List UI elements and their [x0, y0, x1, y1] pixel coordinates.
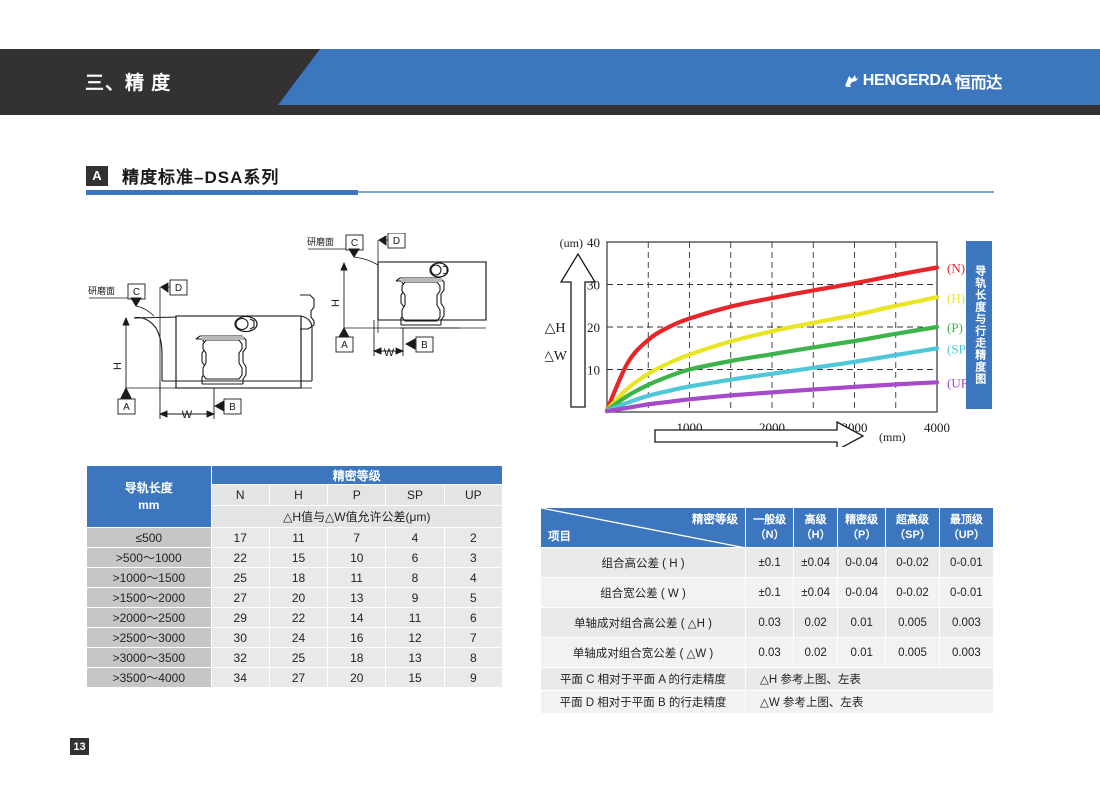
tolerance-value-UP: 2 [444, 528, 502, 548]
grade-col-UP: UP [444, 485, 502, 506]
rail-length-unit: mm [138, 498, 159, 512]
datum-d-left: D [175, 283, 182, 294]
chart-legend-N: (N) [947, 261, 965, 276]
grade-table-right: 精密等级 项目 一般级（N） 高级（H） 精密级（P） 超高级（SP） 最顶级（… [540, 507, 994, 714]
tolerance-value-P: 13 [328, 588, 386, 608]
tolerance-value-SP: 12 [386, 628, 444, 648]
spec-value-merged: △H 参考上图、左表 [746, 668, 994, 691]
tolerance-value-H: 11 [269, 528, 327, 548]
tolerance-value-H: 25 [269, 648, 327, 668]
svg-text:10: 10 [587, 363, 600, 378]
tolerance-value-P: 10 [328, 548, 386, 568]
spec-value-高级: ±0.04 [794, 578, 838, 608]
spec-value-最顶级: 0-0.01 [939, 548, 993, 578]
table-row: >3500～4000342720159 [87, 668, 503, 688]
eagle-mark-icon [843, 73, 860, 90]
tolerance-value-UP: 7 [444, 628, 502, 648]
rail-length-range: >1500～2000 [87, 588, 212, 608]
rail-length-range: >500～1000 [87, 548, 212, 568]
tolerance-value-P: 18 [328, 648, 386, 668]
logo-text-cn: 恒而达 [955, 69, 1002, 93]
table-corner-cell: 精密等级 项目 [541, 508, 746, 548]
table-row: ≤5001711742 [87, 528, 503, 548]
section-heading: A 精度标准–DSA系列 [86, 163, 279, 188]
table-row: >1500～200027201395 [87, 588, 503, 608]
chart-legend-P: (P) [947, 320, 963, 335]
section-title: 精度标准–DSA系列 [122, 163, 279, 188]
tolerance-value-SP: 11 [386, 608, 444, 628]
tolerance-value-UP: 8 [444, 648, 502, 668]
drawing-rail-section-right: H W A B [300, 233, 515, 383]
tolerance-value-SP: 15 [386, 668, 444, 688]
table-row: >2000～2500292214116 [87, 608, 503, 628]
datum-a-left: A [123, 402, 130, 413]
tolerance-value-H: 27 [269, 668, 327, 688]
grade-col-0: 一般级（N） [746, 508, 794, 548]
spec-value-最顶级: 0-0.01 [939, 578, 993, 608]
tolerance-value-N: 34 [211, 668, 269, 688]
table-row: 精密等级 项目 一般级（N） 高级（H） 精密级（P） 超高级（SP） 最顶级（… [541, 508, 994, 548]
section-rule-primary [86, 190, 358, 195]
tolerance-value-SP: 13 [386, 648, 444, 668]
spec-item-label: 单轴成对组合高公差 ( △H ) [541, 608, 746, 638]
table-row: >1000～150025181184 [87, 568, 503, 588]
rail-length-range: >2500～3000 [87, 628, 212, 648]
datum-b-right: B [421, 340, 428, 351]
page-number: 13 [70, 738, 89, 755]
spec-value-精密级: 0-0.04 [838, 578, 886, 608]
drawing-rail-section-left: H W A B [84, 236, 334, 426]
grade-col-P: P [328, 485, 386, 506]
page-title: 三、精 度 [85, 68, 171, 95]
spec-value-超高级: 0.005 [886, 638, 939, 668]
tolerance-value-P: 20 [328, 668, 386, 688]
page-root: 三、精 度 HENGERDA 恒而达 A 精度标准–DSA系列 [0, 0, 1100, 802]
spec-value-精密级: 0-0.04 [838, 548, 886, 578]
table-row: 单轴成对组合宽公差 ( △W )0.030.020.010.0050.003 [541, 638, 994, 668]
table-row: 组合宽公差 ( W )±0.1±0.040-0.040-0.020-0.01 [541, 578, 994, 608]
dimension-w-label-right: W [384, 347, 395, 359]
spec-value-高级: ±0.04 [794, 548, 838, 578]
logo-text-en: HENGERDA [863, 72, 952, 90]
tolerance-value-N: 25 [211, 568, 269, 588]
datum-a-right: A [341, 340, 348, 351]
svg-text:△H: △H [545, 321, 565, 336]
tolerance-value-P: 16 [328, 628, 386, 648]
tolerance-value-H: 24 [269, 628, 327, 648]
tolerance-value-P: 14 [328, 608, 386, 628]
spec-value-一般级: 0.03 [746, 608, 794, 638]
spec-value-最顶级: 0.003 [939, 608, 993, 638]
datum-b-left: B [229, 402, 236, 413]
tolerance-note: △H值与△W值允许公差(μm) [211, 506, 502, 528]
spec-item-label: 组合高公差 ( H ) [541, 548, 746, 578]
rail-length-range: >3000～3500 [87, 648, 212, 668]
tolerance-value-SP: 6 [386, 548, 444, 568]
dimension-h-label-left: H [112, 362, 124, 370]
grade-col-SP: SP [386, 485, 444, 506]
chart-legend-H: (H) [947, 290, 965, 305]
datum-c-left: C [133, 287, 140, 298]
grade-col-4: 最顶级（UP） [939, 508, 993, 548]
svg-text:(um): (um) [560, 236, 583, 250]
tolerance-value-SP: 4 [386, 528, 444, 548]
tolerance-value-H: 18 [269, 568, 327, 588]
svg-text:20: 20 [587, 320, 600, 335]
tolerance-value-P: 7 [328, 528, 386, 548]
tolerance-table-left: 导轨长度 mm 精密等级 NHPSPUP △H值与△W值允许公差(μm) ≤50… [86, 465, 503, 688]
spec-value-最顶级: 0.003 [939, 638, 993, 668]
spec-value-超高级: 0-0.02 [886, 578, 939, 608]
spec-item-label: 组合宽公差 ( W ) [541, 578, 746, 608]
tolerance-value-UP: 5 [444, 588, 502, 608]
tolerance-value-P: 11 [328, 568, 386, 588]
brand-logo: HENGERDA 恒而达 [843, 69, 1002, 93]
rail-length-range: >3500～4000 [87, 668, 212, 688]
table-row: >3000～3500322518138 [87, 648, 503, 668]
table-row: >2500～3000302416127 [87, 628, 503, 648]
spec-value-merged: △W 参考上图、左表 [746, 691, 994, 714]
spec-value-一般级: ±0.1 [746, 578, 794, 608]
dimension-w-label-left: W [182, 409, 193, 421]
tolerance-value-UP: 9 [444, 668, 502, 688]
table-row: 平面 C 相对于平面 A 的行走精度△H 参考上图、左表 [541, 668, 994, 691]
grade-col-N: N [211, 485, 269, 506]
tolerance-value-N: 32 [211, 648, 269, 668]
tolerance-value-UP: 4 [444, 568, 502, 588]
tolerance-value-H: 15 [269, 548, 327, 568]
grind-surface-label-left: 研磨面 [88, 286, 115, 297]
tolerance-value-N: 29 [211, 608, 269, 628]
rail-length-range: >1000～1500 [87, 568, 212, 588]
svg-text:(mm): (mm) [879, 430, 906, 444]
table-row: 组合高公差 ( H )±0.1±0.040-0.040-0.020-0.01 [541, 548, 994, 578]
grade-col-2: 精密级（P） [838, 508, 886, 548]
tolerance-value-N: 27 [211, 588, 269, 608]
tolerance-value-UP: 3 [444, 548, 502, 568]
spec-item-label: 单轴成对组合宽公差 ( △W ) [541, 638, 746, 668]
tolerance-value-N: 17 [211, 528, 269, 548]
spec-value-高级: 0.02 [794, 638, 838, 668]
tolerance-value-N: 22 [211, 548, 269, 568]
table-row: 导轨长度 mm 精密等级 [87, 466, 503, 485]
section-badge: A [86, 166, 108, 186]
spec-item-label: 平面 D 相对于平面 B 的行走精度 [541, 691, 746, 714]
spec-item-label: 平面 C 相对于平面 A 的行走精度 [541, 668, 746, 691]
spec-value-精密级: 0.01 [838, 608, 886, 638]
rail-length-range: ≤500 [87, 528, 212, 548]
corner-bottom-label: 项目 [548, 528, 571, 544]
chart-side-title: 导轨长度与行走精度图 [966, 241, 992, 409]
tolerance-value-N: 30 [211, 628, 269, 648]
svg-text:4000: 4000 [924, 420, 950, 435]
datum-d-right: D [393, 236, 400, 247]
table-row: >500～100022151063 [87, 548, 503, 568]
datum-c-right: C [351, 238, 358, 249]
section-rule-secondary [358, 191, 994, 193]
svg-text:△W: △W [545, 349, 568, 364]
svg-text:40: 40 [587, 235, 600, 250]
table-row: 平面 D 相对于平面 B 的行走精度△W 参考上图、左表 [541, 691, 994, 714]
tolerance-value-SP: 9 [386, 588, 444, 608]
dimension-h-label-right: H [330, 299, 342, 307]
spec-value-一般级: 0.03 [746, 638, 794, 668]
tolerance-value-SP: 8 [386, 568, 444, 588]
spec-value-超高级: 0-0.02 [886, 548, 939, 578]
corner-top-label: 精密等级 [692, 511, 738, 527]
tolerance-value-H: 22 [269, 608, 327, 628]
grade-col-3: 超高级（SP） [886, 508, 939, 548]
spec-value-精密级: 0.01 [838, 638, 886, 668]
rail-length-label: 导轨长度 [125, 481, 173, 495]
rail-length-range: >2000～2500 [87, 608, 212, 628]
tolerance-value-UP: 6 [444, 608, 502, 628]
grind-surface-label-right: 研磨面 [307, 237, 334, 248]
spec-value-超高级: 0.005 [886, 608, 939, 638]
table-row: 单轴成对组合高公差 ( △H )0.030.020.010.0050.003 [541, 608, 994, 638]
accuracy-chart: 102030401000200030004000(um)(N)(H)(P)(SP… [545, 232, 995, 447]
spec-value-高级: 0.02 [794, 608, 838, 638]
grade-col-H: H [269, 485, 327, 506]
spec-value-一般级: ±0.1 [746, 548, 794, 578]
tolerance-value-H: 20 [269, 588, 327, 608]
grade-col-1: 高级（H） [794, 508, 838, 548]
grade-header: 精密等级 [211, 466, 502, 485]
